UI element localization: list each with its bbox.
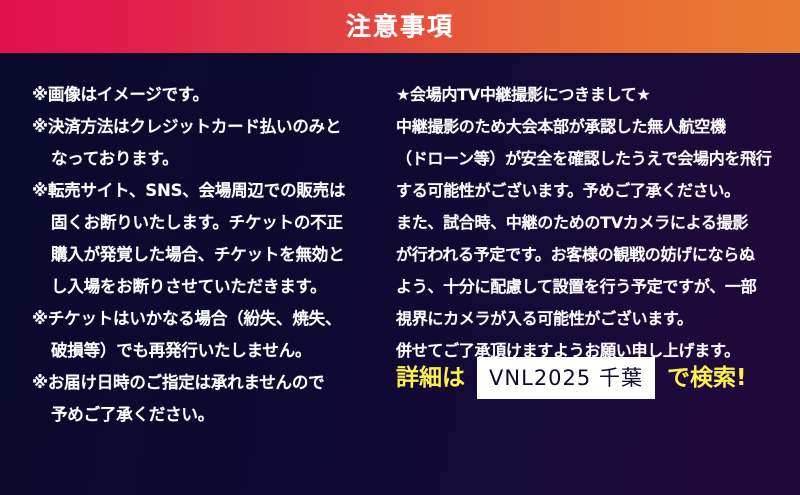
right-notice-list: ★会場内TV中継撮影につきまして★中継撮影のため大会本部が承認した無人航空機（ド… bbox=[396, 53, 788, 367]
notice-line: 破損等）でも再発行いたしません。 bbox=[32, 335, 380, 367]
notice-line: ※チケットはいかなる場合（紛失、焼失、 bbox=[32, 303, 380, 335]
right-notice-column: ★会場内TV中継撮影につきまして★中継撮影のため大会本部が承認した無人航空機（ド… bbox=[396, 53, 788, 367]
notice-line: よう、十分に配慮して設置を行う予定ですが、一部 bbox=[396, 271, 788, 303]
left-notice-column: ※画像はイメージです。※決済方法はクレジットカード払いのみとなっております。※転… bbox=[32, 53, 380, 431]
search-suffix-label: で検索! bbox=[667, 367, 747, 390]
notice-line: が行われる予定です。お客様の観戦の妨げにならぬ bbox=[396, 239, 788, 271]
notice-line: 予めご了承ください。 bbox=[32, 399, 380, 431]
search-callout: 詳細は VNL2025 千葉 で検索! bbox=[396, 348, 792, 408]
notice-line: する可能性がございます。予めご了承ください。 bbox=[396, 175, 788, 207]
search-query-box[interactable]: VNL2025 千葉 bbox=[477, 357, 655, 399]
notice-line: ※お届け日時のご指定は承れませんので bbox=[32, 367, 380, 399]
notice-line: し入場をお断りさせていただきます。 bbox=[32, 271, 380, 303]
notice-line: ※画像はイメージです。 bbox=[32, 79, 380, 111]
notice-body: ※画像はイメージです。※決済方法はクレジットカード払いのみとなっております。※転… bbox=[0, 53, 800, 495]
notice-line: 固くお断りいたします。チケットの不正 bbox=[32, 207, 380, 239]
notice-line: また、試合時、中継のためのTVカメラによる撮影 bbox=[396, 207, 788, 239]
notice-line: なっております。 bbox=[32, 143, 380, 175]
notice-panel: 注意事項 ※画像はイメージです。※決済方法はクレジットカード払いのみとなっており… bbox=[0, 0, 800, 495]
notice-line: ★会場内TV中継撮影につきまして★ bbox=[396, 79, 788, 111]
page-title: 注意事項 bbox=[346, 14, 454, 39]
notice-line: 購入が発覚した場合、チケットを無効と bbox=[32, 239, 380, 271]
notice-line: 視界にカメラが入る可能性がございます。 bbox=[396, 303, 788, 335]
header-banner: 注意事項 bbox=[0, 0, 800, 53]
notice-line: ※決済方法はクレジットカード払いのみと bbox=[32, 111, 380, 143]
search-prefix-label: 詳細は bbox=[396, 367, 465, 390]
notice-line: ※転売サイト、SNS、会場周辺での販売は bbox=[32, 175, 380, 207]
notice-line: （ドローン等）が安全を確認したうえで会場内を飛行 bbox=[396, 143, 788, 175]
notice-line: 中継撮影のため大会本部が承認した無人航空機 bbox=[396, 111, 788, 143]
left-notice-list: ※画像はイメージです。※決済方法はクレジットカード払いのみとなっております。※転… bbox=[32, 53, 380, 431]
search-query-text: VNL2025 千葉 bbox=[489, 368, 643, 389]
